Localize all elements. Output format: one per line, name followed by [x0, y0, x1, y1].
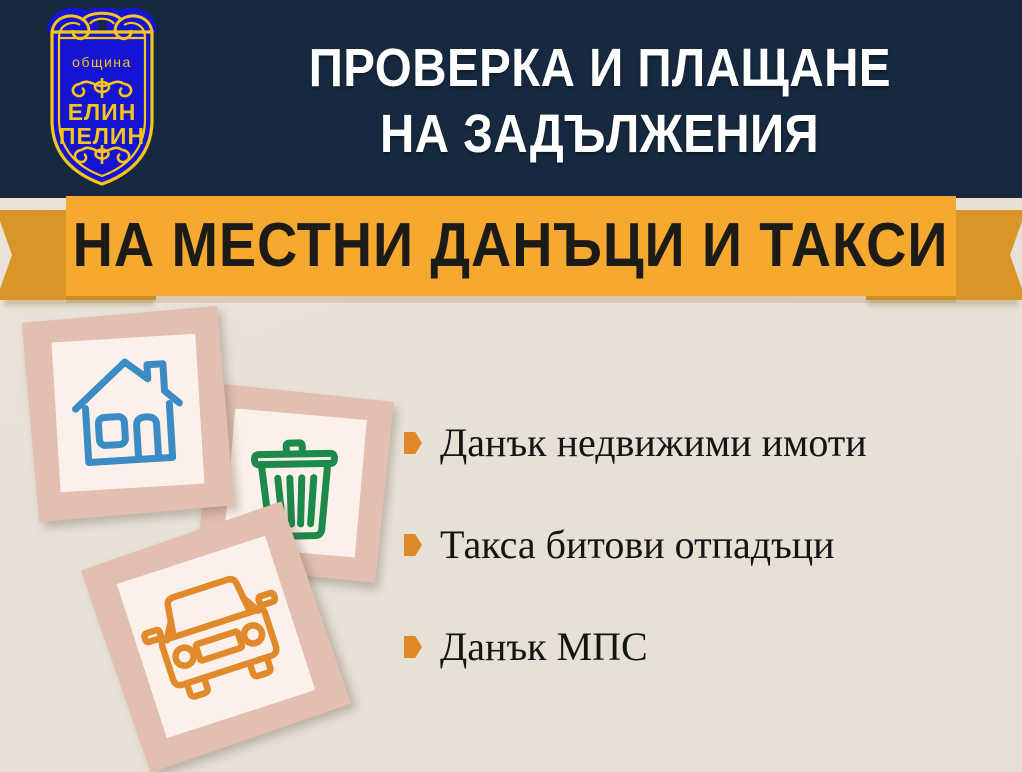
municipality-emblem: община ЕЛИН ПЕЛИН [28, 8, 176, 190]
subtitle-ribbon: НА МЕСТНИ ДАНЪЦИ И ТАКСИ [0, 196, 1022, 314]
tax-types-list: Данък недвижими имоти Такса битови отпад… [404, 420, 1014, 670]
arrow-bullet-icon [404, 534, 422, 556]
ribbon-text: НА МЕСТНИ ДАНЪЦИ И ТАКСИ [73, 215, 949, 277]
emblem-shield-icon: община ЕЛИН ПЕЛИН [28, 8, 176, 190]
list-item-label: Данък МПС [440, 625, 648, 669]
list-item-label: Такса битови отпадъци [440, 523, 835, 567]
list-item-label: Данък недвижими имоти [440, 421, 867, 465]
list-item[interactable]: Такса битови отпадъци [404, 522, 1014, 568]
poster-canvas: община ЕЛИН ПЕЛИН ПРОВЕРКА И ПЛАЩАНЕ НА … [0, 0, 1022, 772]
title-line-2: НА ЗАДЪЛЖЕНИЯ [380, 101, 819, 167]
list-item[interactable]: Данък недвижими имоти [404, 420, 1014, 466]
arrow-bullet-icon [404, 432, 422, 454]
page-title: ПРОВЕРКА И ПЛАЩАНЕ НА ЗАДЪЛЖЕНИЯ [186, 18, 1014, 183]
arrow-bullet-icon [404, 636, 422, 658]
stamp-scallop-edge [22, 306, 235, 522]
list-item[interactable]: Данък МПС [404, 624, 1014, 670]
emblem-name-line1: ЕЛИН [68, 99, 137, 125]
emblem-name-line2: ПЕЛИН [59, 123, 145, 149]
title-line-1: ПРОВЕРКА И ПЛАЩАНЕ [309, 35, 891, 101]
ribbon-banner: НА МЕСТНИ ДАНЪЦИ И ТАКСИ [66, 196, 956, 296]
header-bar: община ЕЛИН ПЕЛИН ПРОВЕРКА И ПЛАЩАНЕ НА … [0, 0, 1022, 198]
emblem-top-word: община [72, 54, 132, 70]
stamp-card-house [22, 306, 235, 522]
